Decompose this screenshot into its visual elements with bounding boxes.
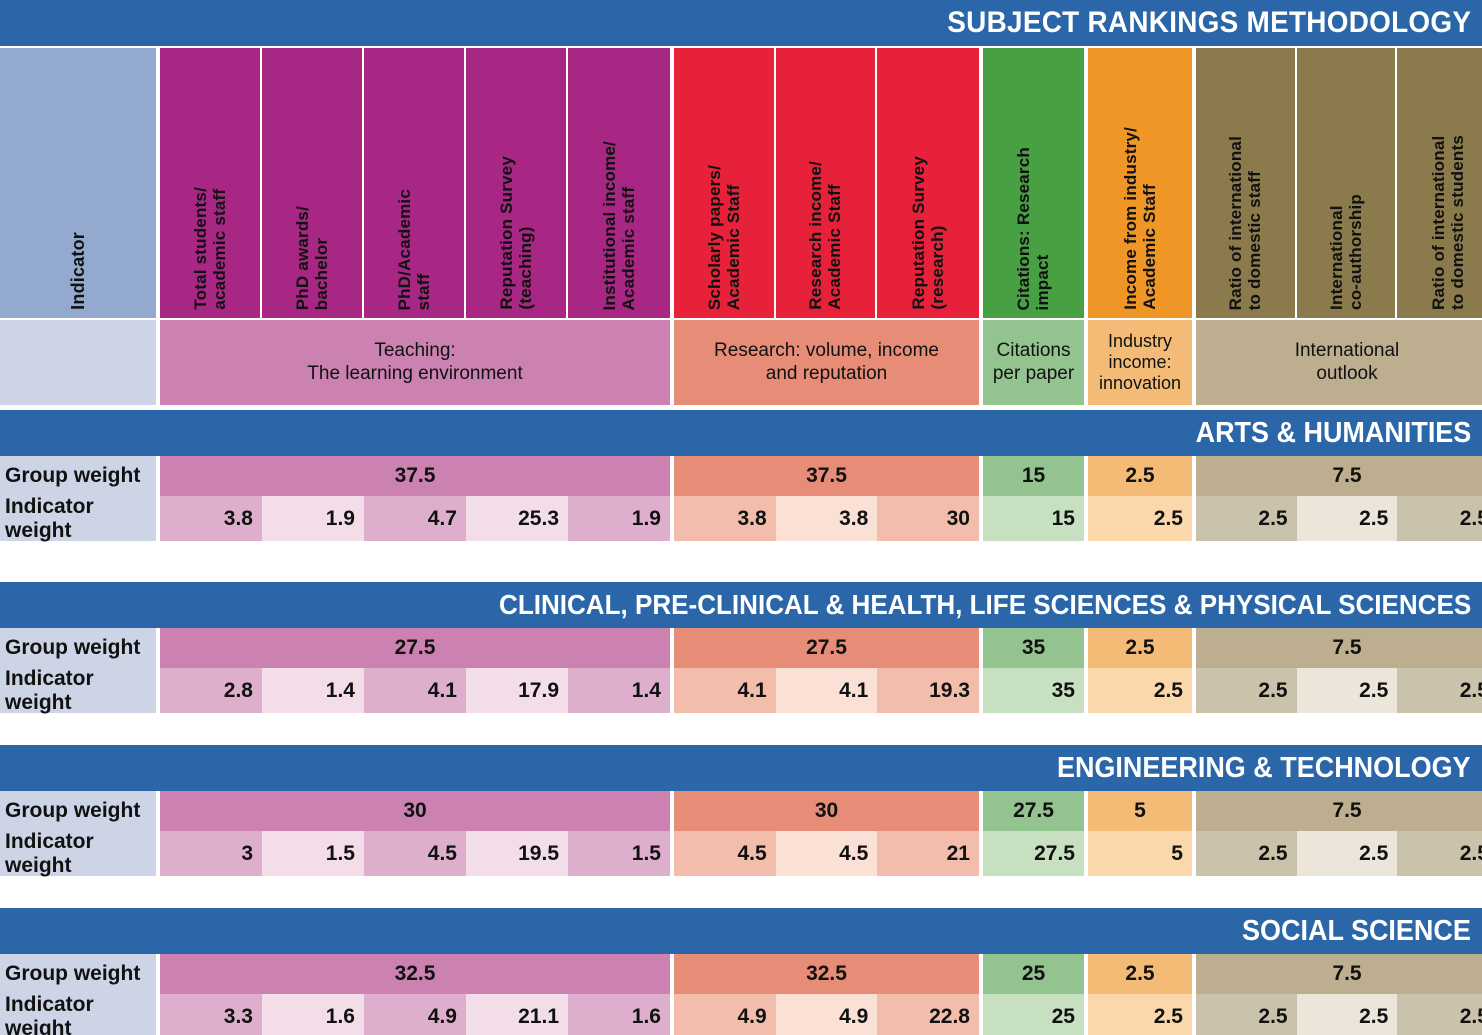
indicator-weight-cell: 2.5 bbox=[1196, 831, 1297, 876]
indicator-name: PhD awards/ bachelor bbox=[293, 206, 331, 310]
indicator-header-teaching-1: Total students/ academic staff bbox=[160, 48, 260, 318]
indicator-weight-cell: 2.5 bbox=[1397, 668, 1482, 713]
group-weight-citations: 27.5 bbox=[983, 791, 1084, 831]
indicator-weight-cell: 5 bbox=[1088, 831, 1192, 876]
indicator-header-teaching-5: Institutional income/ Academic staff bbox=[568, 48, 670, 318]
indicator-weight-cell: 1.4 bbox=[262, 668, 364, 713]
indicator-header-industry-1: Income from industry/ Academic Staff bbox=[1088, 48, 1192, 318]
group-weight-industry: 2.5 bbox=[1088, 628, 1192, 668]
group-weight-row: Group weight27.527.5352.57.5 bbox=[0, 628, 1482, 668]
group-weight-international: 7.5 bbox=[1196, 628, 1482, 668]
group-weight-research: 37.5 bbox=[674, 456, 979, 496]
indicator-weight-cell: 2.5 bbox=[1397, 496, 1482, 541]
group-weight-industry: 2.5 bbox=[1088, 954, 1192, 994]
category-header-industry: Industry income: innovation bbox=[1088, 320, 1192, 405]
subject-section-1: ARTS & HUMANITIESGroup weight37.537.5152… bbox=[0, 410, 1482, 541]
methodology-table: SUBJECT RANKINGS METHODOLOGY IndicatorTo… bbox=[0, 0, 1482, 1035]
indicator-name: Research income/ Academic Staff bbox=[806, 161, 844, 310]
group-weight-research: 32.5 bbox=[674, 954, 979, 994]
subject-banner: ENGINEERING & TECHNOLOGY bbox=[0, 745, 1482, 791]
indicator-header-citations-1: Citations: Research impact bbox=[983, 48, 1084, 318]
indicator-weight-cell: 19.3 bbox=[877, 668, 979, 713]
indicator-weight-cell: 3.8 bbox=[160, 496, 262, 541]
indicator-weight-label: Indicator weight bbox=[0, 831, 156, 876]
group-weight-international: 7.5 bbox=[1196, 954, 1482, 994]
indicator-weight-cell: 2.5 bbox=[1297, 668, 1398, 713]
indicator-weight-cell: 22.8 bbox=[877, 994, 979, 1035]
indicator-name: Reputation Survey (teaching) bbox=[497, 156, 535, 310]
group-weight-international: 7.5 bbox=[1196, 456, 1482, 496]
indicator-weight-cell: 2.5 bbox=[1088, 668, 1192, 713]
indicator-name: Institutional income/ Academic staff bbox=[600, 141, 638, 311]
indicator-weight-cell: 25 bbox=[983, 994, 1084, 1035]
indicator-weight-cell: 1.5 bbox=[568, 831, 670, 876]
category-row-spacer bbox=[0, 320, 156, 405]
group-weight-row: Group weight303027.557.5 bbox=[0, 791, 1482, 831]
indicator-weight-cell: 2.5 bbox=[1196, 496, 1297, 541]
indicator-header-research-3: Reputation Survey (research) bbox=[877, 48, 979, 318]
category-header-research: Research: volume, income and reputation bbox=[674, 320, 979, 405]
indicator-weight-cell: 4.7 bbox=[364, 496, 466, 541]
indicator-weight-label: Indicator weight bbox=[0, 994, 156, 1035]
indicator-weight-cell: 1.4 bbox=[568, 668, 670, 713]
subject-title: ENGINEERING & TECHNOLOGY bbox=[1057, 752, 1482, 785]
indicator-header-teaching-4: Reputation Survey (teaching) bbox=[466, 48, 566, 318]
indicator-weight-label: Indicator weight bbox=[0, 668, 156, 713]
indicator-name: Ratio of international to domestic staff bbox=[1226, 136, 1264, 310]
group-weight-row: Group weight32.532.5252.57.5 bbox=[0, 954, 1482, 994]
indicator-weight-cell: 2.8 bbox=[160, 668, 262, 713]
indicator-weight-cell: 2.5 bbox=[1088, 994, 1192, 1035]
indicator-header-teaching-3: PhD/Academic staff bbox=[364, 48, 464, 318]
indicator-weight-cell: 1.6 bbox=[262, 994, 364, 1035]
group-weight-teaching: 32.5 bbox=[160, 954, 670, 994]
indicator-weight-cell: 1.6 bbox=[568, 994, 670, 1035]
indicator-weight-cell: 4.1 bbox=[776, 668, 878, 713]
indicator-weight-row: Indicator weight3.31.64.921.11.64.94.922… bbox=[0, 994, 1482, 1035]
subject-section-4: SOCIAL SCIENCEGroup weight32.532.5252.57… bbox=[0, 908, 1482, 1035]
indicator-weight-cell: 1.9 bbox=[568, 496, 670, 541]
group-weight-international: 7.5 bbox=[1196, 791, 1482, 831]
group-weight-row: Group weight37.537.5152.57.5 bbox=[0, 456, 1482, 496]
indicator-header-research-1: Scholarly papers/ Academic Staff bbox=[674, 48, 774, 318]
subject-section-3: ENGINEERING & TECHNOLOGYGroup weight3030… bbox=[0, 745, 1482, 876]
indicator-name: International co-authorship bbox=[1327, 194, 1365, 310]
subject-banner: ARTS & HUMANITIES bbox=[0, 410, 1482, 456]
indicator-weight-cell: 4.9 bbox=[674, 994, 776, 1035]
indicator-name: PhD/Academic staff bbox=[395, 189, 433, 310]
indicator-weight-cell: 35 bbox=[983, 668, 1084, 713]
indicator-weight-cell: 4.1 bbox=[674, 668, 776, 713]
indicator-weight-row: Indicator weight31.54.519.51.54.54.52127… bbox=[0, 831, 1482, 876]
category-header-citations: Citations per paper bbox=[983, 320, 1084, 405]
group-weight-label: Group weight bbox=[0, 456, 156, 496]
indicator-weight-cell: 3.3 bbox=[160, 994, 262, 1035]
indicator-weight-cell: 1.5 bbox=[262, 831, 364, 876]
group-weight-research: 30 bbox=[674, 791, 979, 831]
subject-banner: SOCIAL SCIENCE bbox=[0, 908, 1482, 954]
indicator-name: Scholarly papers/ Academic Staff bbox=[705, 165, 743, 310]
indicator-weight-cell: 1.9 bbox=[262, 496, 364, 541]
indicator-weight-cell: 4.9 bbox=[364, 994, 466, 1035]
group-weight-teaching: 27.5 bbox=[160, 628, 670, 668]
indicator-header-international-3: Ratio of international to domestic stude… bbox=[1397, 48, 1482, 318]
group-weight-teaching: 37.5 bbox=[160, 456, 670, 496]
indicator-weight-cell: 2.5 bbox=[1196, 994, 1297, 1035]
group-weight-label: Group weight bbox=[0, 791, 156, 831]
subject-title: CLINICAL, PRE-CLINICAL & HEALTH, LIFE SC… bbox=[499, 589, 1482, 621]
group-weight-citations: 35 bbox=[983, 628, 1084, 668]
indicator-weight-cell: 3 bbox=[160, 831, 262, 876]
indicator-weight-row: Indicator weight2.81.44.117.91.44.14.119… bbox=[0, 668, 1482, 713]
indicator-name: Total students/ academic staff bbox=[191, 187, 229, 310]
indicator-weight-cell: 2.5 bbox=[1397, 831, 1482, 876]
group-weight-label: Group weight bbox=[0, 628, 156, 668]
indicator-header-row: IndicatorTotal students/ academic staffP… bbox=[0, 48, 1482, 318]
category-name: Citations per paper bbox=[983, 320, 1084, 405]
indicator-weight-cell: 19.5 bbox=[466, 831, 568, 876]
indicator-name: Ratio of international to domestic stude… bbox=[1429, 135, 1467, 310]
indicator-weight-cell: 21 bbox=[877, 831, 979, 876]
group-weight-research: 27.5 bbox=[674, 628, 979, 668]
indicator-weight-cell: 2.5 bbox=[1297, 994, 1398, 1035]
category-name: Teaching: The learning environment bbox=[160, 320, 670, 405]
indicator-column-label: Indicator bbox=[68, 232, 88, 310]
indicator-header-international-2: International co-authorship bbox=[1297, 48, 1396, 318]
indicator-weight-cell: 3.8 bbox=[776, 496, 878, 541]
indicator-weight-cell: 30 bbox=[877, 496, 979, 541]
indicator-weight-cell: 4.5 bbox=[674, 831, 776, 876]
indicator-name: Citations: Research impact bbox=[1014, 147, 1052, 310]
group-weight-citations: 15 bbox=[983, 456, 1084, 496]
indicator-weight-cell: 21.1 bbox=[466, 994, 568, 1035]
page-title-banner: SUBJECT RANKINGS METHODOLOGY bbox=[0, 0, 1482, 46]
group-weight-teaching: 30 bbox=[160, 791, 670, 831]
indicator-header-international-1: Ratio of international to domestic staff bbox=[1196, 48, 1295, 318]
page-title: SUBJECT RANKINGS METHODOLOGY bbox=[947, 6, 1482, 40]
indicator-name: Reputation Survey (research) bbox=[909, 156, 947, 310]
group-weight-citations: 25 bbox=[983, 954, 1084, 994]
indicator-weight-cell: 2.5 bbox=[1397, 994, 1482, 1035]
indicator-weight-cell: 2.5 bbox=[1196, 668, 1297, 713]
category-name: International outlook bbox=[1196, 320, 1482, 405]
indicator-column-header: Indicator bbox=[0, 48, 156, 318]
indicator-weight-cell: 4.5 bbox=[364, 831, 466, 876]
indicator-weight-label: Indicator weight bbox=[0, 496, 156, 541]
table-header: IndicatorTotal students/ academic staffP… bbox=[0, 48, 1482, 405]
subject-title: SOCIAL SCIENCE bbox=[1242, 915, 1482, 948]
indicator-weight-cell: 27.5 bbox=[983, 831, 1084, 876]
indicator-weight-row: Indicator weight3.81.94.725.31.93.83.830… bbox=[0, 496, 1482, 541]
indicator-weight-cell: 15 bbox=[983, 496, 1084, 541]
subject-banner: CLINICAL, PRE-CLINICAL & HEALTH, LIFE SC… bbox=[0, 582, 1482, 628]
indicator-header-teaching-2: PhD awards/ bachelor bbox=[262, 48, 362, 318]
subject-title: ARTS & HUMANITIES bbox=[1195, 417, 1482, 450]
subject-section-2: CLINICAL, PRE-CLINICAL & HEALTH, LIFE SC… bbox=[0, 582, 1482, 713]
indicator-weight-cell: 17.9 bbox=[466, 668, 568, 713]
indicator-weight-cell: 25.3 bbox=[466, 496, 568, 541]
category-header-international: International outlook bbox=[1196, 320, 1482, 405]
indicator-weight-cell: 2.5 bbox=[1088, 496, 1192, 541]
indicator-weight-cell: 4.9 bbox=[776, 994, 878, 1035]
group-weight-label: Group weight bbox=[0, 954, 156, 994]
indicator-weight-cell: 4.1 bbox=[364, 668, 466, 713]
indicator-weight-cell: 2.5 bbox=[1297, 496, 1398, 541]
indicator-weight-cell: 2.5 bbox=[1297, 831, 1398, 876]
category-name: Industry income: innovation bbox=[1088, 320, 1192, 405]
group-weight-industry: 2.5 bbox=[1088, 456, 1192, 496]
indicator-weight-cell: 4.5 bbox=[776, 831, 878, 876]
group-weight-industry: 5 bbox=[1088, 791, 1192, 831]
indicator-name: Income from industry/ Academic Staff bbox=[1121, 127, 1159, 310]
indicator-weight-cell: 3.8 bbox=[674, 496, 776, 541]
category-header-row: Teaching: The learning environmentResear… bbox=[0, 320, 1482, 405]
category-name: Research: volume, income and reputation bbox=[674, 320, 979, 405]
category-header-teaching: Teaching: The learning environment bbox=[160, 320, 670, 405]
indicator-header-research-2: Research income/ Academic Staff bbox=[776, 48, 876, 318]
